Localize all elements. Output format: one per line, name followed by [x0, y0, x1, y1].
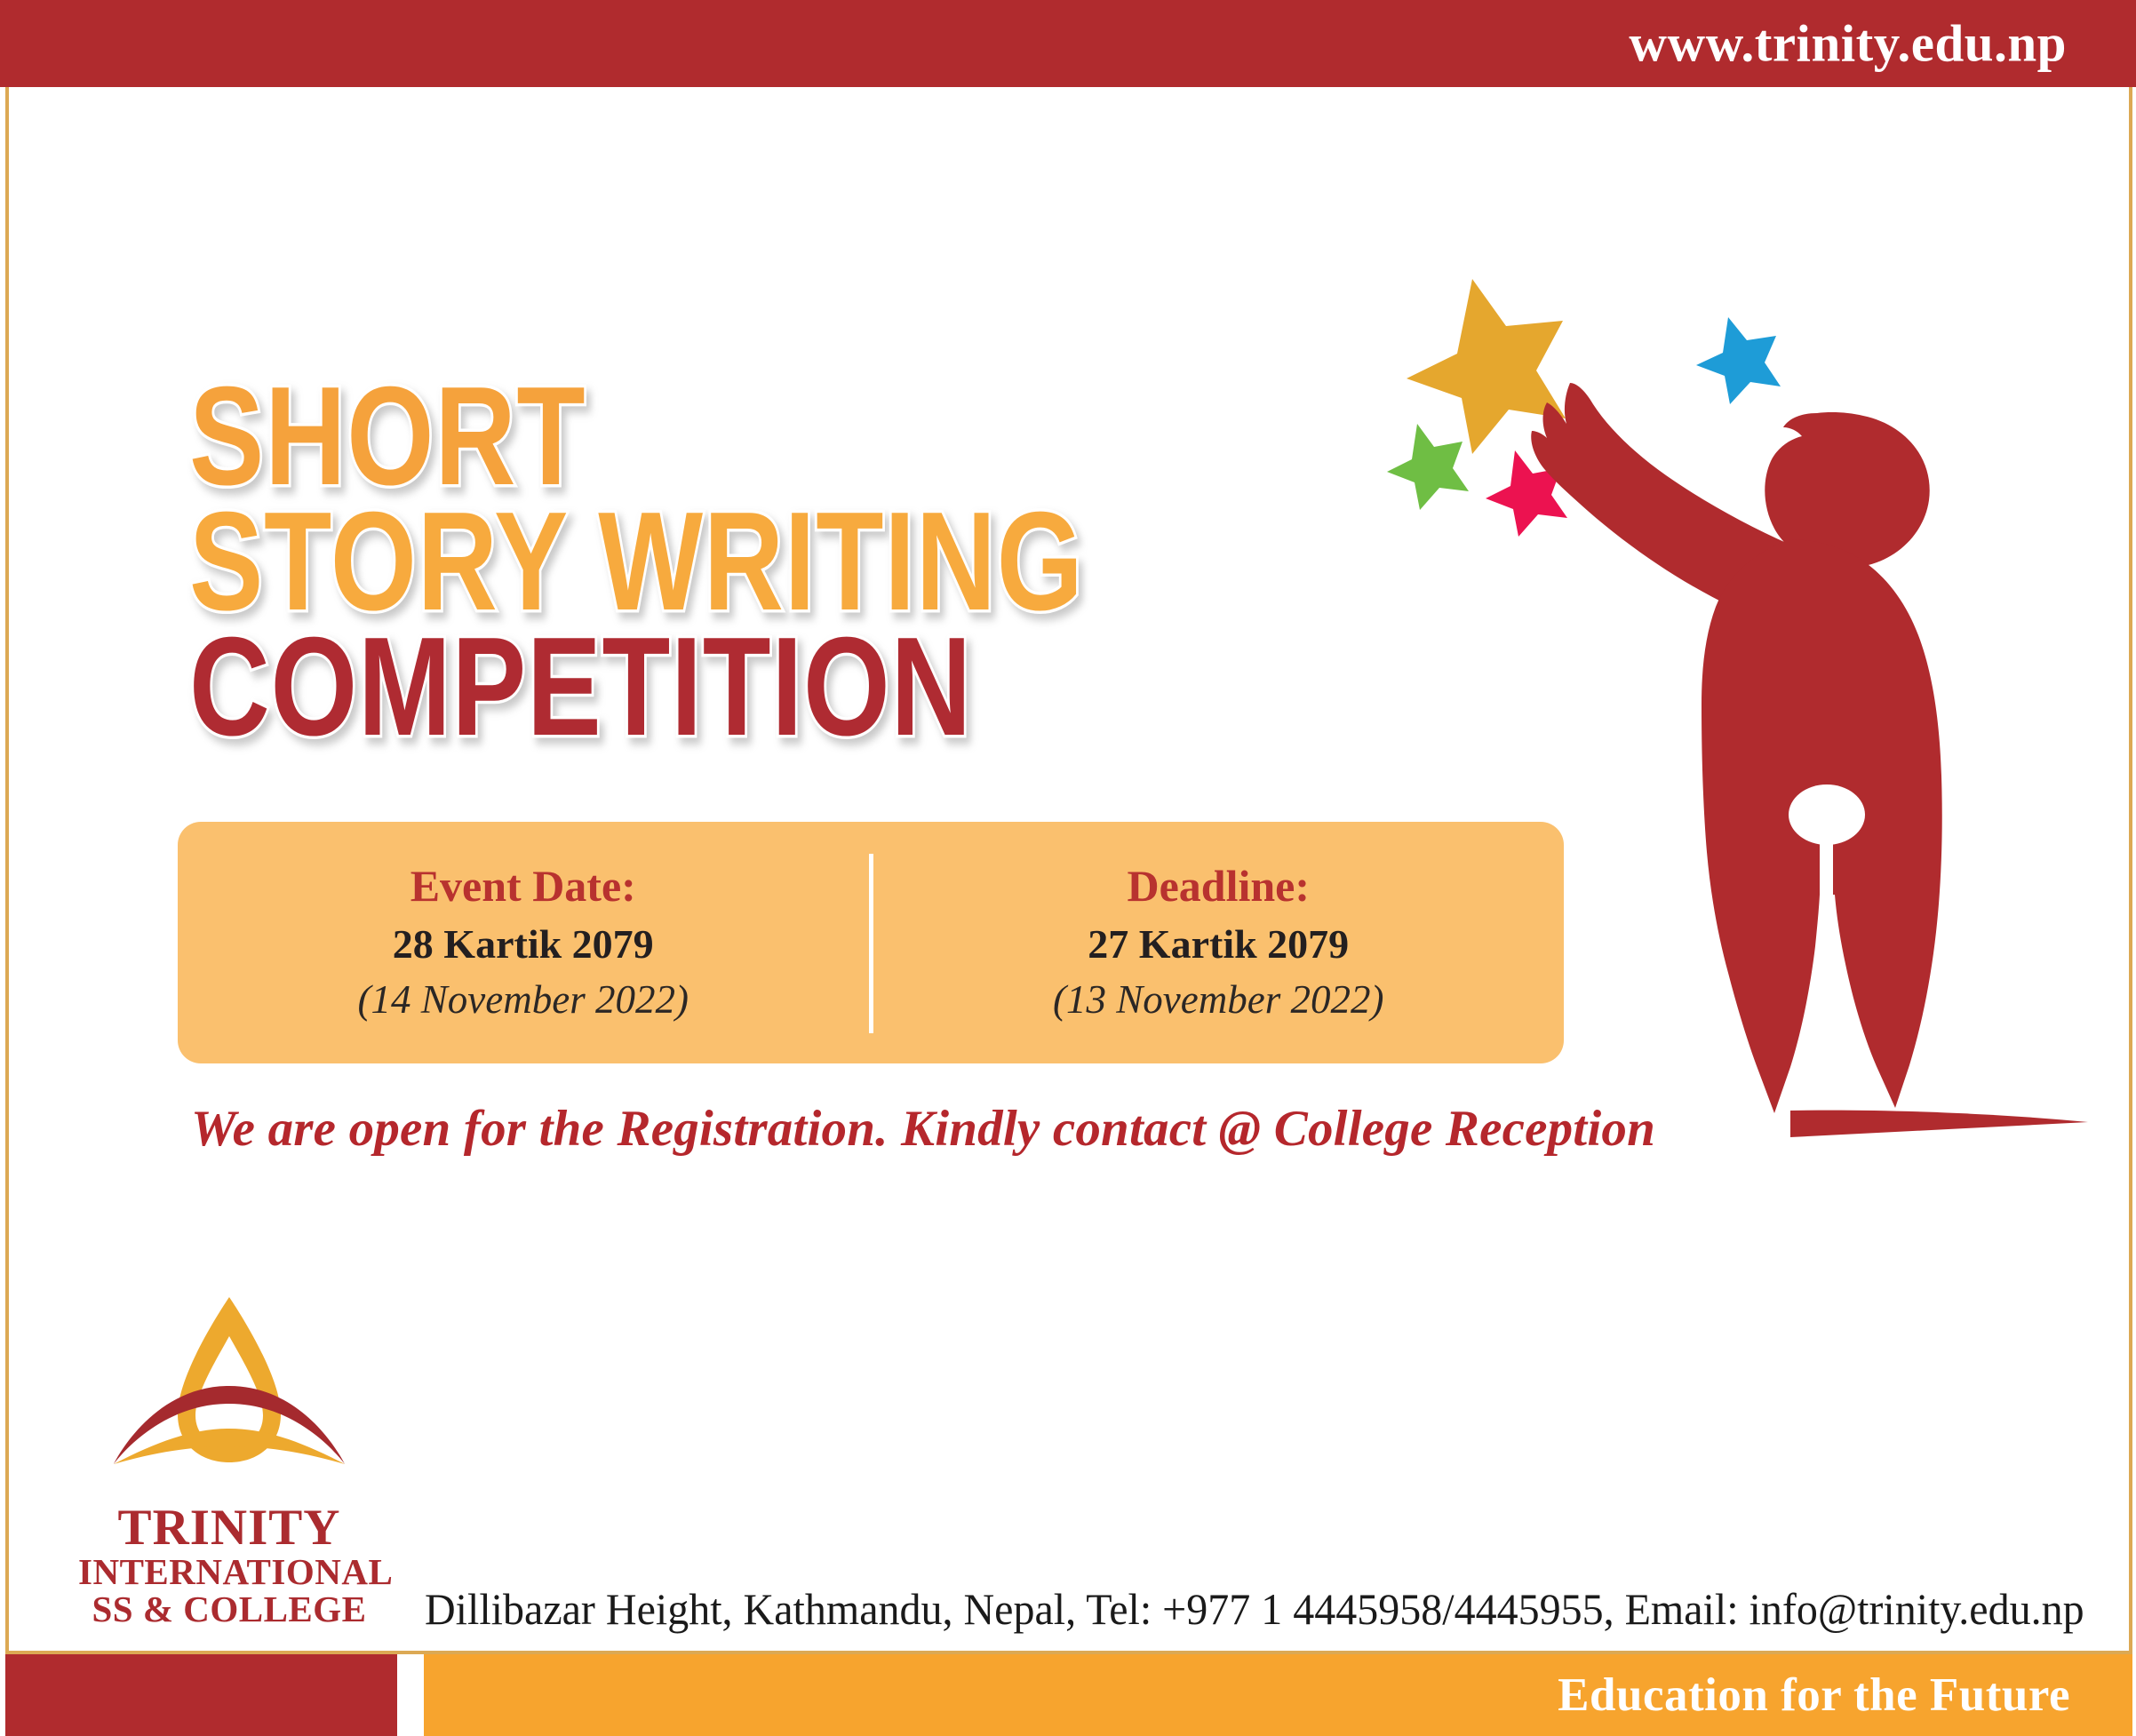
footer-red-block [5, 1654, 397, 1736]
website-url[interactable]: www.trinity.edu.np [1629, 13, 2067, 75]
footer-orange-bar: Education for the Future [424, 1654, 2132, 1736]
college-logo: TRINITY INTERNATIONAL SS & COLLEGE [78, 1290, 380, 1628]
poster-canvas: www.trinity.edu.np [0, 0, 2136, 1736]
figure-ground-shadow [1790, 1111, 2088, 1137]
headline-line-1: SHORT [189, 371, 1277, 502]
pen-nib-slit [1820, 831, 1833, 1117]
event-date-column: Event Date: 28 Kartik 2079 (14 November … [178, 822, 869, 1063]
logo-name-line-3: SS & COLLEGE [78, 1591, 380, 1628]
trinity-knot-logo-icon [96, 1290, 363, 1490]
left-gold-rule [5, 87, 9, 1654]
event-date-bs: 28 Kartik 2079 [393, 923, 654, 966]
deadline-column: Deadline: 27 Kartik 2079 (13 November 20… [873, 822, 1565, 1063]
headline-line-2: STORY WRITING [189, 497, 1263, 627]
logo-name-line-1: TRINITY [78, 1502, 380, 1554]
footer-tagline: Education for the Future [1558, 1668, 2070, 1722]
deadline-date-ad: (13 November 2022) [1053, 979, 1383, 1021]
headline-line-3: COMPETITION [189, 622, 1270, 753]
registration-note: We are open for the Registration. Kindly… [191, 1100, 1655, 1158]
event-info-panel: Event Date: 28 Kartik 2079 (14 November … [178, 822, 1564, 1063]
headline-block: SHORT STORY WRITING COMPETITION [189, 371, 1549, 753]
deadline-label: Deadline: [1127, 863, 1310, 910]
blue-star-icon [1696, 317, 1781, 404]
right-gold-rule [2129, 87, 2132, 1654]
header-bar: www.trinity.edu.np [0, 0, 2136, 87]
event-date-label: Event Date: [410, 863, 636, 910]
event-date-ad: (14 November 2022) [358, 979, 689, 1021]
deadline-date-bs: 27 Kartik 2079 [1088, 923, 1349, 966]
logo-name-line-2: INTERNATIONAL [78, 1554, 380, 1591]
contact-address: Dillibazar Height, Kathmandu, Nepal, Tel… [425, 1583, 2084, 1635]
